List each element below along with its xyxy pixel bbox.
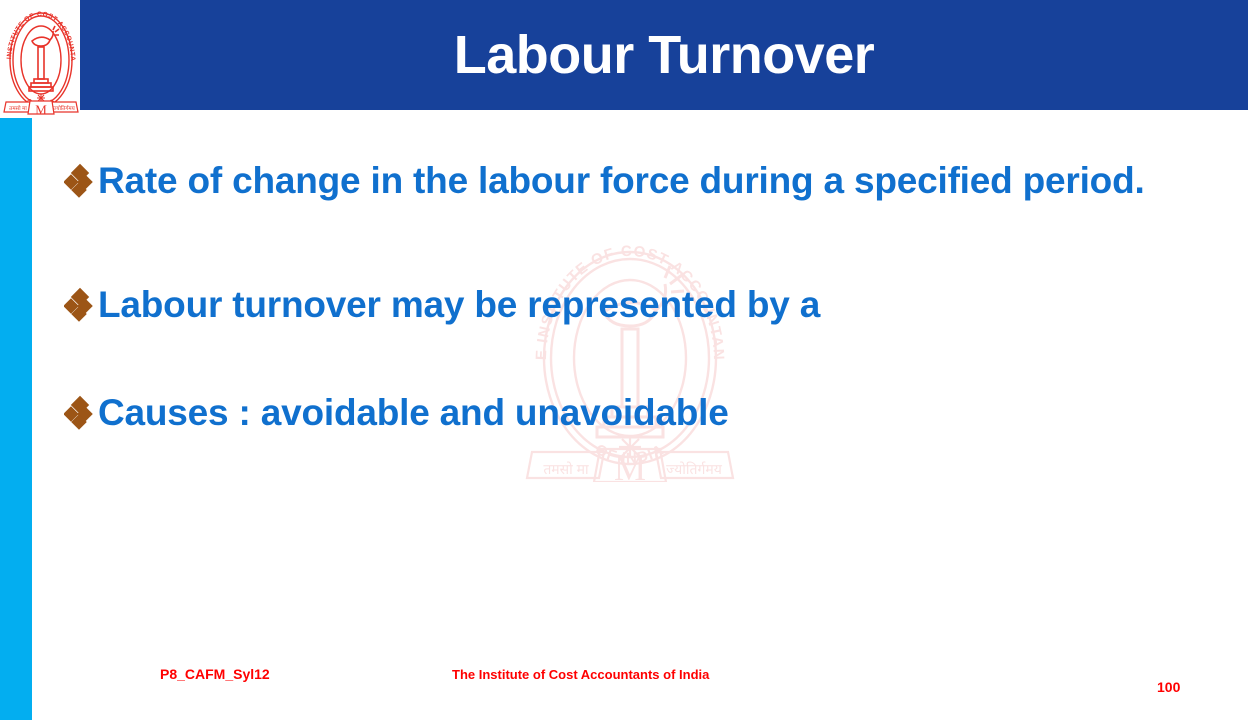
bullet-item-2: Labour turnover may be represented by a — [64, 282, 1224, 329]
slide-number: 100 — [1157, 679, 1180, 695]
svg-text:ज्योतिर्गमय: ज्योतिर्गमय — [666, 461, 723, 477]
slide-body: Rate of change in the labour force durin… — [64, 158, 1224, 437]
svg-text:ज्योतिर्गमय: ज्योतिर्गमय — [53, 105, 75, 112]
footer-subject-code: P8_CAFM_Syl12 — [160, 666, 270, 682]
diamond-cluster-bullet-icon — [64, 160, 98, 204]
svg-text:M: M — [614, 448, 646, 482]
svg-text:तमसो मा: तमसो मा — [9, 105, 27, 112]
bullet-text-3: Causes : avoidable and unavoidable — [98, 390, 1213, 437]
diamond-cluster-bullet-icon — [64, 284, 98, 328]
footer-institute-name: The Institute of Cost Accountants of Ind… — [452, 667, 709, 682]
diamond-cluster-bullet-icon — [64, 392, 98, 436]
bullet-text-1: Rate of change in the labour force durin… — [98, 158, 1213, 205]
bullet-text-2: Labour turnover may be represented by a — [98, 282, 1213, 329]
bullet-item-3: Causes : avoidable and unavoidable — [64, 390, 1224, 437]
left-accent-bar — [0, 118, 32, 720]
svg-text:तमसो मा: तमसो मा — [543, 461, 589, 477]
institute-logo: THE INSTITUTE OF COST ACCOUNTANTS OF IND… — [2, 2, 80, 118]
svg-text:OF INDIA: OF INDIA — [592, 441, 667, 467]
page-title: Labour Turnover — [80, 0, 1248, 110]
svg-text:THE INSTITUTE OF COST ACCOUNTA: THE INSTITUTE OF COST ACCOUNTANTS — [2, 2, 76, 62]
bullet-item-1: Rate of change in the labour force durin… — [64, 158, 1224, 205]
slide-canvas: Labour Turnover THE INSTITUTE OF COST AC… — [0, 0, 1248, 720]
svg-text:M: M — [35, 102, 47, 117]
